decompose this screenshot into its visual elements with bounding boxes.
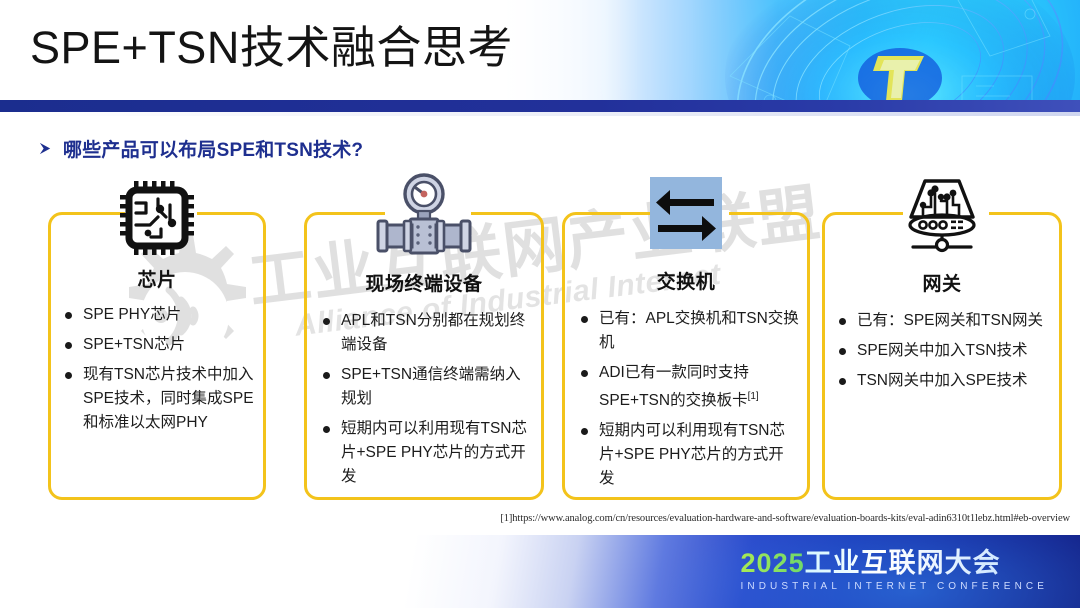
conference-year: 2025 <box>741 548 805 578</box>
gateway-icon <box>901 175 983 255</box>
list-item: ADI已有一款同时支持SPE+TSN的交换板卡[1] <box>577 361 799 413</box>
microchip-icon <box>118 179 196 257</box>
footnote-reference[interactable]: [1]https://www.analog.com/cn/resources/e… <box>210 513 1070 524</box>
slide: SPE+TSN技术融合思考 工业互联网产业联盟 Alliance of Indu… <box>0 0 1080 608</box>
conference-logo: 2025工业互联网大会 INDUSTRIAL INTERNET CONFEREN… <box>741 547 1048 592</box>
list-item: SPE网关中加入TSN技术 <box>835 339 1051 363</box>
card-bullet-list: APL和TSN分别都在规划终端设备 SPE+TSN通信终端需纳入规划 短期内可以… <box>319 309 533 495</box>
list-item: SPE+TSN芯片 <box>61 333 255 357</box>
list-item: 现有TSN芯片技术中加入SPE技术，同时集成SPE和标准以太网PHY <box>61 363 255 435</box>
list-item: 已有：SPE网关和TSN网关 <box>835 309 1051 333</box>
list-item: SPE PHY芯片 <box>61 303 255 327</box>
card-chip[interactable]: 芯片 SPE PHY芯片 SPE+TSN芯片 现有TSN芯片技术中加入SPE技术… <box>48 212 266 500</box>
list-item: 短期内可以利用现有TSN芯片+SPE PHY芯片的方式开发 <box>319 417 533 489</box>
footnote-marker: [1] <box>748 391 759 402</box>
list-item: SPE+TSN通信终端需纳入规划 <box>319 363 533 411</box>
network-switch-icon <box>650 177 722 249</box>
card-title: 交换机 <box>565 267 807 294</box>
card-gateway[interactable]: 网关 已有：SPE网关和TSN网关 SPE网关中加入TSN技术 TSN网关中加入… <box>822 212 1062 500</box>
list-item: 已有：APL交换机和TSN交换机 <box>577 307 799 355</box>
field-valve-sensor-icon <box>374 173 474 259</box>
list-item: TSN网关中加入SPE技术 <box>835 369 1051 393</box>
card-bullet-list: 已有：APL交换机和TSN交换机 ADI已有一款同时支持SPE+TSN的交换板卡… <box>577 307 799 497</box>
list-item: APL和TSN分别都在规划终端设备 <box>319 309 533 357</box>
card-switch[interactable]: 交换机 已有：APL交换机和TSN交换机 ADI已有一款同时支持SPE+TSN的… <box>562 212 810 500</box>
conference-name-en: INDUSTRIAL INTERNET CONFERENCE <box>741 581 1048 592</box>
card-field-device[interactable]: 现场终端设备 APL和TSN分别都在规划终端设备 SPE+TSN通信终端需纳入规… <box>304 212 544 500</box>
slide-footer: 2025工业互联网大会 INDUSTRIAL INTERNET CONFEREN… <box>0 535 1080 608</box>
list-item: 短期内可以利用现有TSN芯片+SPE PHY芯片的方式开发 <box>577 419 799 491</box>
card-bullet-list: 已有：SPE网关和TSN网关 SPE网关中加入TSN技术 TSN网关中加入SPE… <box>835 309 1051 399</box>
card-bullet-list: SPE PHY芯片 SPE+TSN芯片 现有TSN芯片技术中加入SPE技术，同时… <box>61 303 255 441</box>
conference-name-cn: 工业互联网大会 <box>805 548 1001 578</box>
card-title: 现场终端设备 <box>307 269 541 296</box>
card-title: 网关 <box>825 269 1059 296</box>
card-title: 芯片 <box>51 265 263 292</box>
